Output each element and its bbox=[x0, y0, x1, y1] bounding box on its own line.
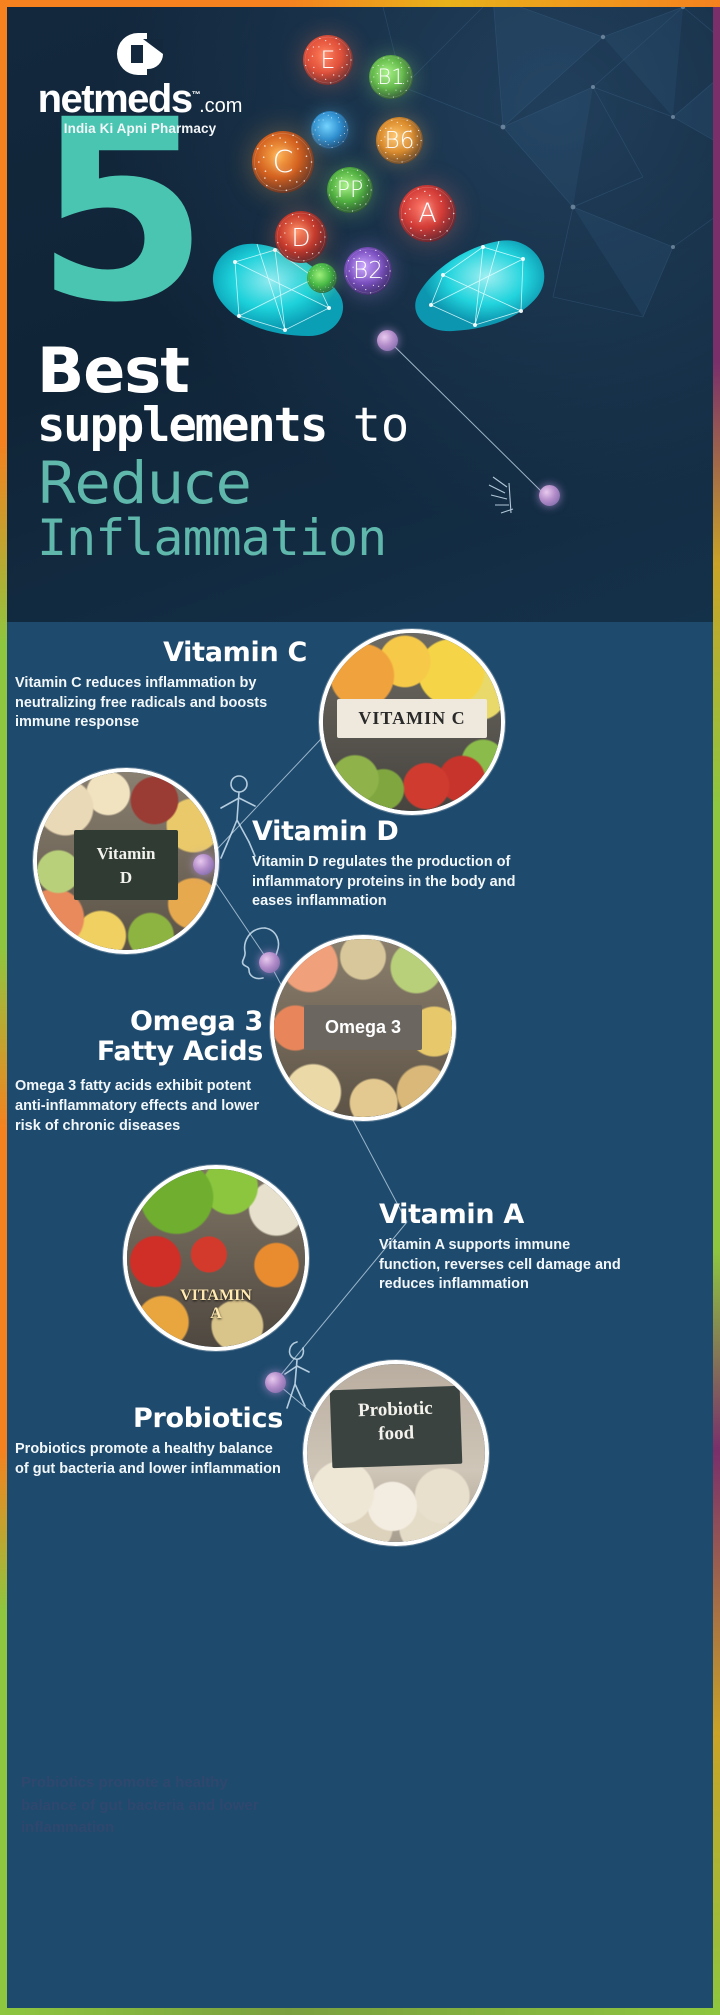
brand-logo[interactable]: netmeds™.com India Ki Apni Pharmacy bbox=[25, 31, 255, 136]
omega-3-title-line-2: Fatty Acids bbox=[15, 1037, 263, 1067]
vitamin-bubble-b1: B1 bbox=[369, 55, 413, 99]
connector-node-omega-3 bbox=[259, 952, 280, 973]
headline-to-word: to bbox=[353, 398, 410, 453]
bubble-label: PP bbox=[337, 178, 364, 203]
omega-3-photo: Omega 3 bbox=[270, 935, 456, 1121]
vitamin-bubble-plain-3 bbox=[311, 111, 349, 149]
probiotics-photo-label-text: Probiotic food bbox=[358, 1398, 433, 1445]
probiotics-title: Probiotics bbox=[15, 1404, 283, 1434]
omega-3-photo-label: Omega 3 bbox=[304, 1005, 422, 1050]
vitamin-c-photo: VITAMIN C bbox=[319, 629, 505, 815]
headline-supplements-word: supplements bbox=[37, 398, 326, 453]
vitamin-a-title: Vitamin A bbox=[379, 1200, 629, 1230]
connector-node-probiotics bbox=[265, 1372, 286, 1393]
probiotics-photo-label: Probiotic food bbox=[330, 1386, 463, 1468]
omega-3-description: Omega 3 fatty acids exhibit potent anti-… bbox=[15, 1077, 263, 1136]
headline-line-supplements: supplements to bbox=[37, 401, 409, 452]
frame-edge-bottom bbox=[0, 2008, 720, 2015]
vitamin-c-block: Vitamin C Vitamin C reduces inflammation… bbox=[15, 638, 307, 733]
bubble-label: B2 bbox=[353, 258, 383, 284]
vitamin-d-photo-label-text: Vitamin D bbox=[97, 844, 156, 887]
bubble-label: E bbox=[320, 46, 335, 74]
bubble-mesh bbox=[307, 263, 337, 293]
headline-line-reduce: Reduce bbox=[37, 454, 409, 512]
vitamin-a-photo: VITAMIN A bbox=[123, 1165, 309, 1351]
frame-edge-top bbox=[0, 0, 720, 7]
brand-wordmark: netmeds™.com bbox=[38, 79, 243, 119]
vitamin-bubble-plain-9 bbox=[307, 263, 337, 293]
vitamin-c-photo-label: VITAMIN C bbox=[337, 699, 487, 738]
probiotics-description: Probiotics promote a healthy balance of … bbox=[15, 1440, 283, 1479]
brand-domain-suffix: .com bbox=[199, 95, 242, 117]
frame-edge-left bbox=[0, 0, 7, 2015]
headline-text: Best supplements to Reduce Inflammation bbox=[37, 342, 409, 564]
vitamin-c-description: Vitamin C reduces inflammation by neutra… bbox=[15, 674, 307, 733]
vitamin-bubble-pp: PP bbox=[327, 167, 373, 213]
brand-name: netmeds bbox=[38, 77, 192, 121]
vitamin-bubble-b6: B6 bbox=[376, 117, 423, 164]
vitamin-d-title: Vitamin D bbox=[252, 817, 532, 847]
vitamin-a-description: Vitamin A supports immune function, reve… bbox=[379, 1236, 629, 1295]
connector-node-hero bbox=[377, 330, 398, 351]
headline-line-best: Best bbox=[37, 342, 409, 401]
probiotics-photo: Probiotic food bbox=[303, 1360, 489, 1546]
netmeds-capsule-logo-icon bbox=[117, 31, 163, 77]
trademark-symbol: ™ bbox=[192, 90, 200, 100]
hero-section: netmeds™.com India Ki Apni Pharmacy 5 Be… bbox=[7, 7, 713, 622]
vitamin-bubble-a: A bbox=[399, 185, 456, 242]
bubble-label: A bbox=[418, 198, 436, 229]
content-sections: Probiotics promote a healthy balance of … bbox=[7, 622, 713, 2008]
omega-3-block: Omega 3 Fatty Acids Omega 3 fatty acids … bbox=[15, 1007, 263, 1136]
capsule-right-icon bbox=[405, 229, 555, 341]
connector-glyph-hero bbox=[487, 473, 547, 517]
bubble-label: B6 bbox=[385, 128, 415, 154]
omega-3-title-line-1: Omega 3 bbox=[15, 1007, 263, 1037]
connector-node-vitamin-d bbox=[193, 854, 214, 875]
vitamin-d-description: Vitamin D regulates the production of in… bbox=[252, 853, 532, 912]
brand-tagline: India Ki Apni Pharmacy bbox=[25, 121, 255, 136]
bubble-label: D bbox=[291, 223, 310, 252]
vitamin-a-photo-label: VITAMIN A bbox=[152, 1281, 280, 1330]
vitamin-bubble-d: D bbox=[275, 211, 327, 263]
vitamin-bubble-e: E bbox=[303, 35, 353, 85]
vitamin-d-block: Vitamin D Vitamin D regulates the produc… bbox=[252, 817, 532, 912]
vitamin-d-photo: Vitamin D bbox=[33, 768, 219, 954]
bubble-label: B1 bbox=[377, 65, 404, 89]
vitamin-bubble-b2: B2 bbox=[344, 247, 392, 295]
frame-edge-right bbox=[713, 0, 720, 2015]
probiotics-block: Probiotics Probiotics promote a healthy … bbox=[15, 1404, 283, 1479]
vitamin-a-block: Vitamin A Vitamin A supports immune func… bbox=[379, 1200, 629, 1295]
connector-node-hero-2 bbox=[539, 485, 560, 506]
vitamin-bubble-c: C bbox=[252, 131, 314, 193]
vitamin-a-photo-label-text: VITAMIN A bbox=[180, 1287, 252, 1322]
vitamin-d-photo-label: Vitamin D bbox=[74, 830, 178, 900]
headline-line-inflammation: Inflammation bbox=[37, 512, 409, 565]
bubble-mesh bbox=[311, 111, 349, 149]
vitamin-c-title: Vitamin C bbox=[15, 638, 307, 668]
infographic-poster: netmeds™.com India Ki Apni Pharmacy 5 Be… bbox=[0, 0, 720, 2015]
bubble-label: C bbox=[273, 145, 294, 180]
